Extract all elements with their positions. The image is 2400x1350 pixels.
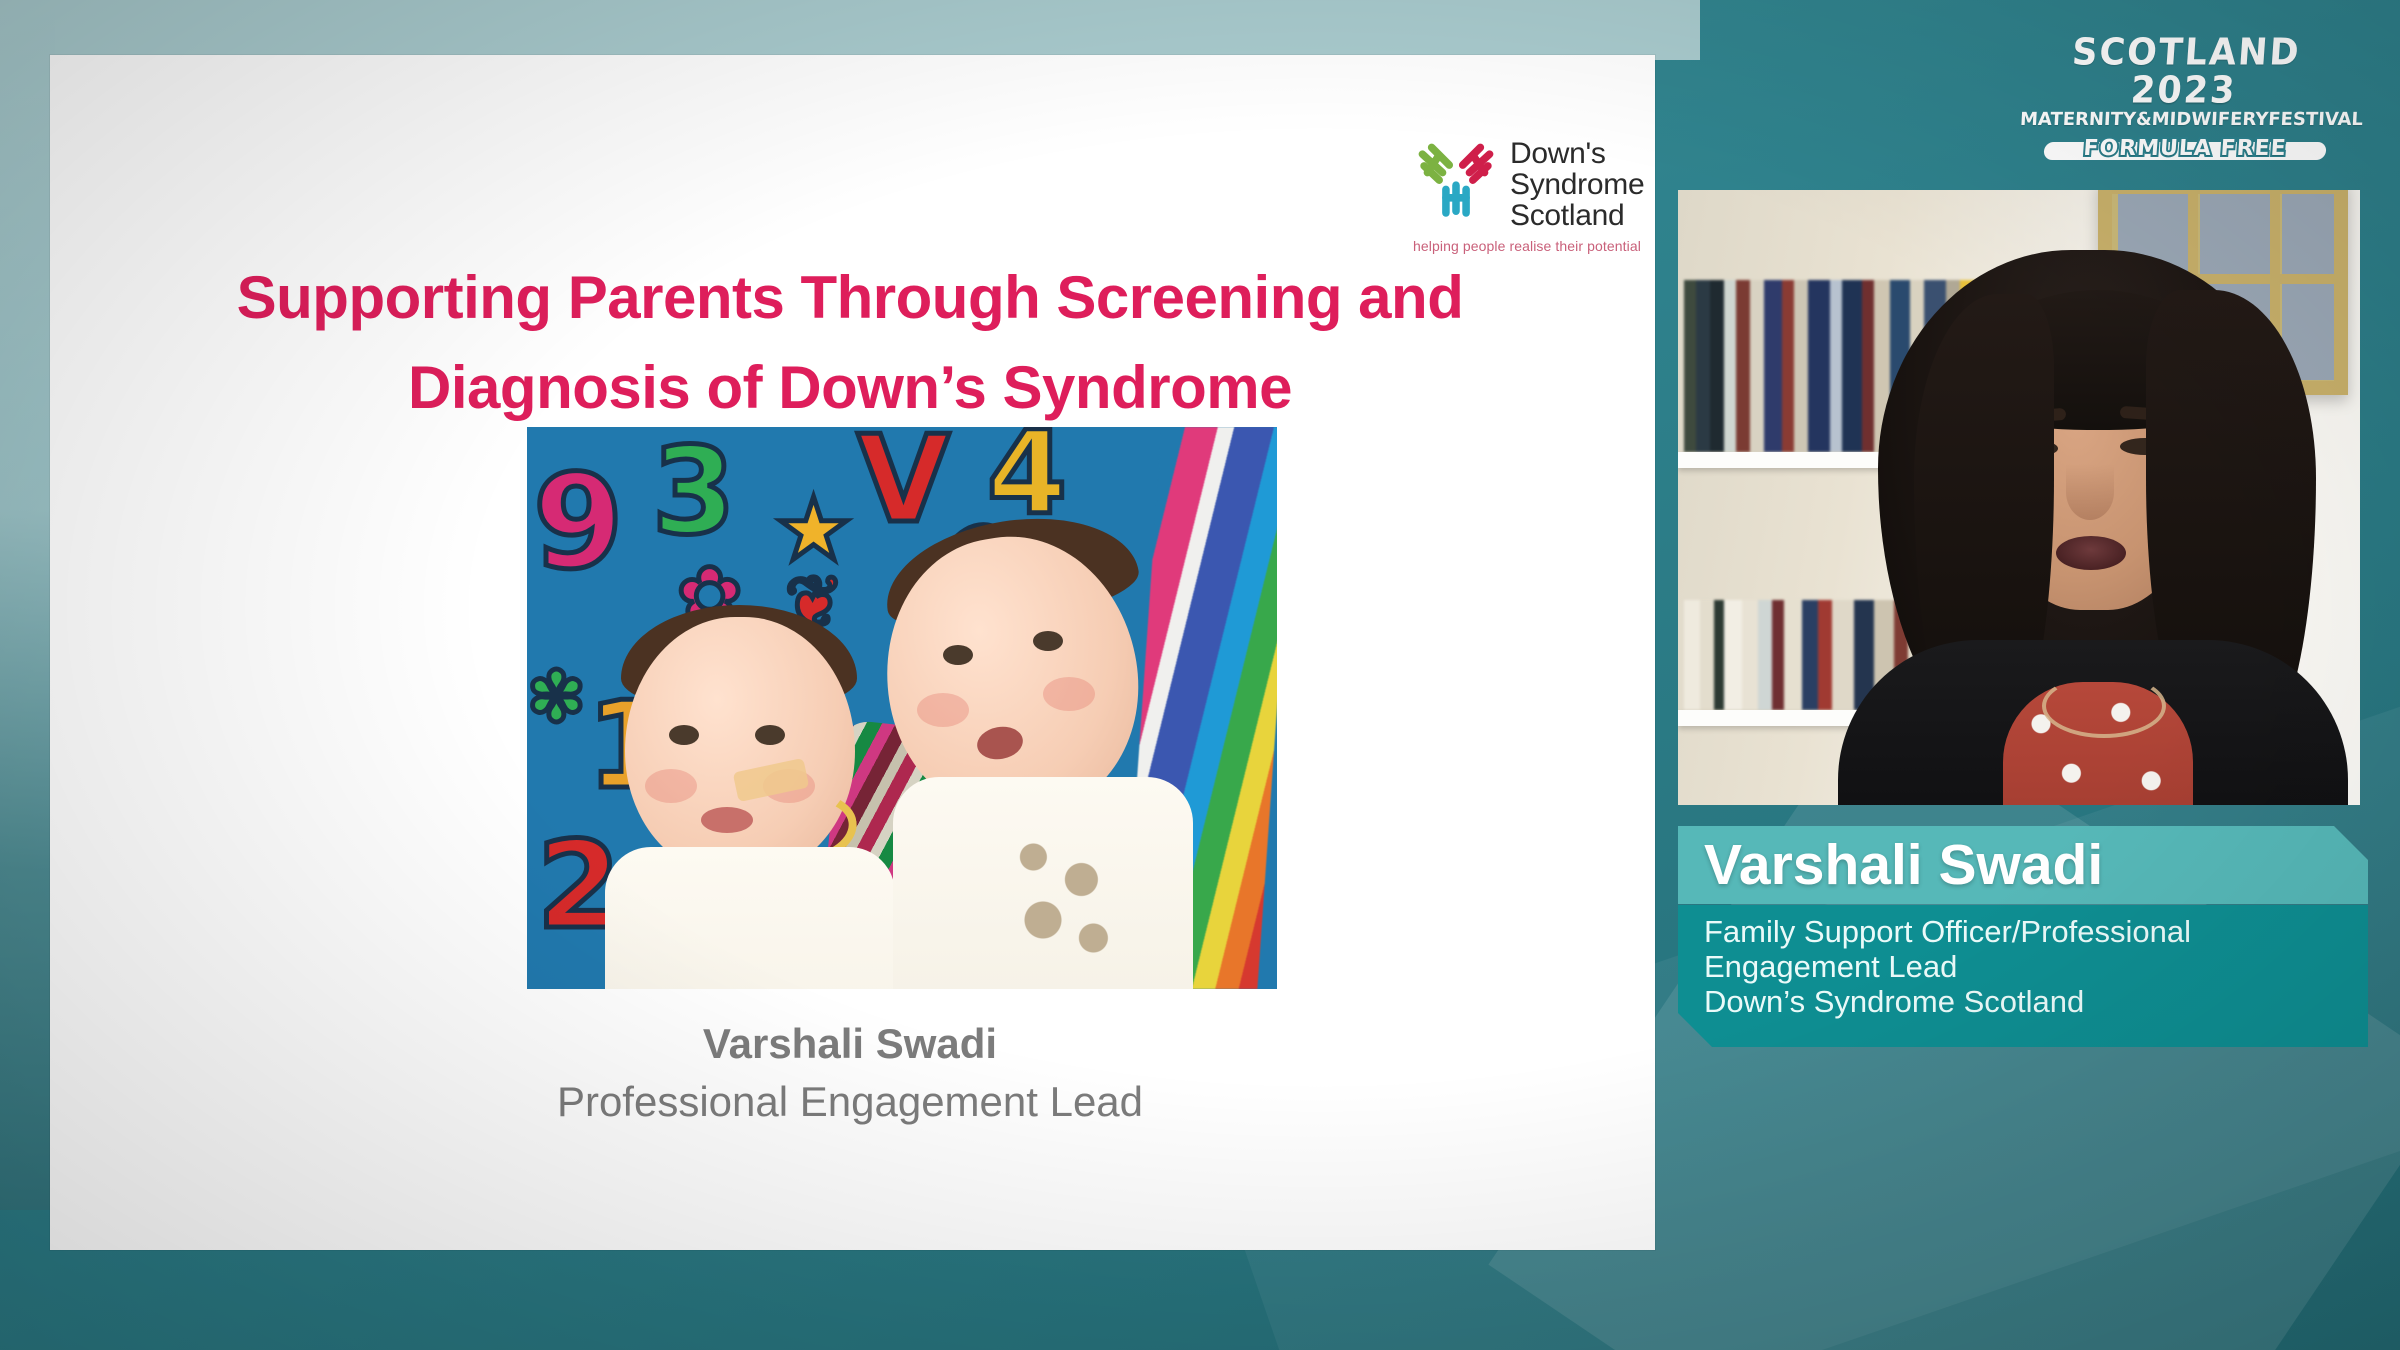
presentation-screen: SCOTLAND 2023 MATERNITY&MIDWIFERYFESTIVA… <box>0 0 2400 1350</box>
screen-vignette <box>0 0 2400 1350</box>
